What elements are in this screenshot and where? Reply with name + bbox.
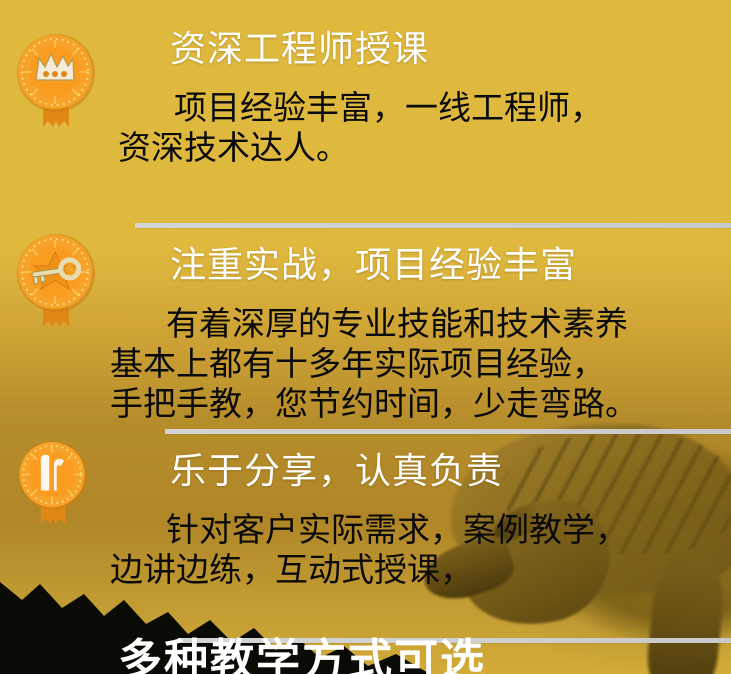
- section-1-heading: 资深工程师授课: [170, 28, 429, 72]
- section-2-body-line-3: 手把手教，您节约时间，少走弯路。: [110, 384, 731, 424]
- section-3-body-line-2: 边讲边练，互动式授课，: [110, 550, 731, 590]
- section-1-body: 项目经验丰富，一线工程师， 资深技术达人。: [118, 88, 731, 168]
- section-2-heading: 注重实战，项目经验丰富: [170, 244, 577, 288]
- section-practical-experience: 注重实战，项目经验丰富 有着深厚的专业技能和技术素养 基本上都有十多年实际项目经…: [0, 228, 731, 428]
- section-2-body: 有着深厚的专业技能和技术素养 基本上都有十多年实际项目经验， 手把手教，您节约时…: [110, 304, 731, 424]
- section-3-body: 针对客户实际需求，案例教学， 边讲边练，互动式授课，: [110, 510, 731, 590]
- bottom-title: 多种教学方式可选: [118, 636, 486, 674]
- crown-medal-icon: [12, 32, 100, 128]
- section-1-body-line-1: 项目经验丰富，一线工程师，: [118, 88, 731, 128]
- section-3-body-line-1: 针对客户实际需求，案例教学，: [110, 510, 731, 550]
- key-medal-icon: [12, 232, 100, 328]
- bottom-title-band: 多种教学方式可选: [0, 620, 731, 674]
- section-sharing-responsible: 乐于分享，认真负责 针对客户实际需求，案例教学， 边讲边练，互动式授课，: [0, 434, 731, 614]
- section-3-heading: 乐于分享，认真负责: [170, 450, 503, 494]
- section-senior-engineer: 资深工程师授课 项目经验丰富，一线工程师， 资深技术达人。: [0, 0, 731, 205]
- section-2-body-line-1: 有着深厚的专业技能和技术素养: [110, 304, 731, 344]
- section-2-body-line-2: 基本上都有十多年实际项目经验，: [110, 344, 731, 384]
- ribbon-medal-icon: [12, 438, 94, 528]
- section-1-body-line-2: 资深技术达人。: [118, 128, 731, 168]
- poster-root: 资深工程师授课 项目经验丰富，一线工程师， 资深技术达人。: [0, 0, 731, 674]
